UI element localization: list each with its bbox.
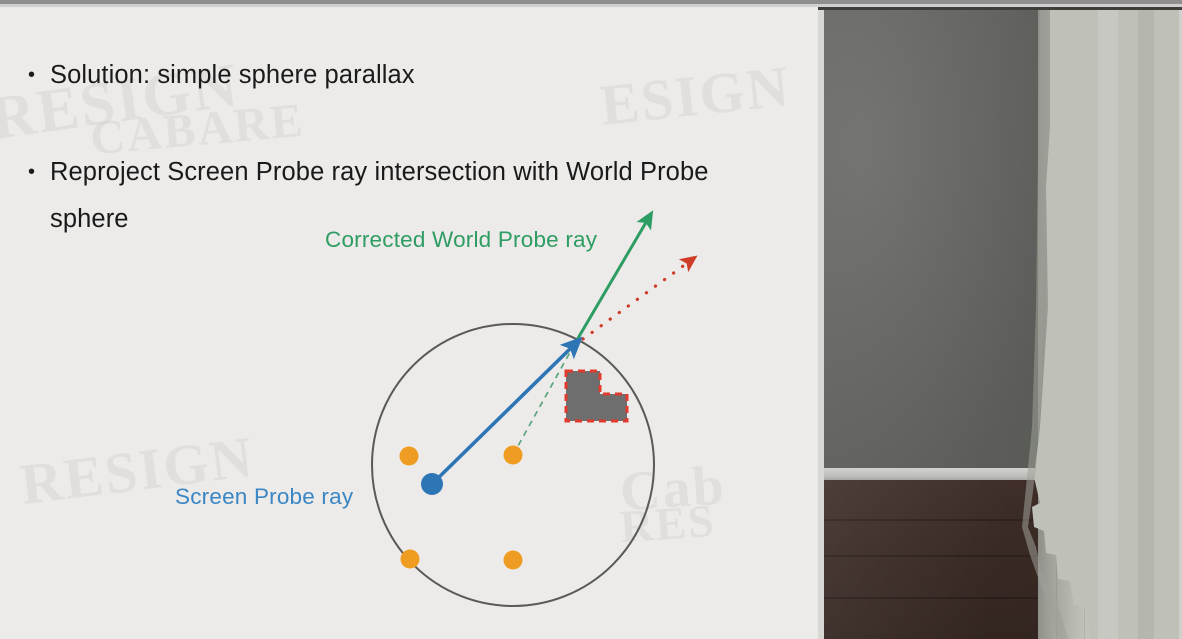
screen-capture: RESIGN CABARE ESIGN RESIGN Cab RES • Sol…: [0, 0, 1182, 639]
world-probe-point: [401, 550, 420, 569]
world-probe-point: [504, 446, 523, 465]
occluder-geometry: [566, 371, 627, 421]
presentation-slide: RESIGN CABARE ESIGN RESIGN Cab RES • Sol…: [0, 7, 818, 639]
corrected-world-probe-ray: [574, 219, 648, 345]
parallax-diagram: [0, 7, 818, 639]
world-probe-point: [504, 551, 523, 570]
presenter-camera-feed: [818, 7, 1182, 639]
camera-frame-top-edge: [818, 7, 1182, 10]
screen-probe-origin-point: [421, 473, 443, 495]
world-probe-point: [400, 447, 419, 466]
curtain-silhouette: [818, 7, 1182, 639]
capture-top-band-highlight: [0, 4, 1182, 7]
screen-probe-ray: [432, 345, 574, 484]
camera-frame-left-edge: [818, 7, 824, 639]
